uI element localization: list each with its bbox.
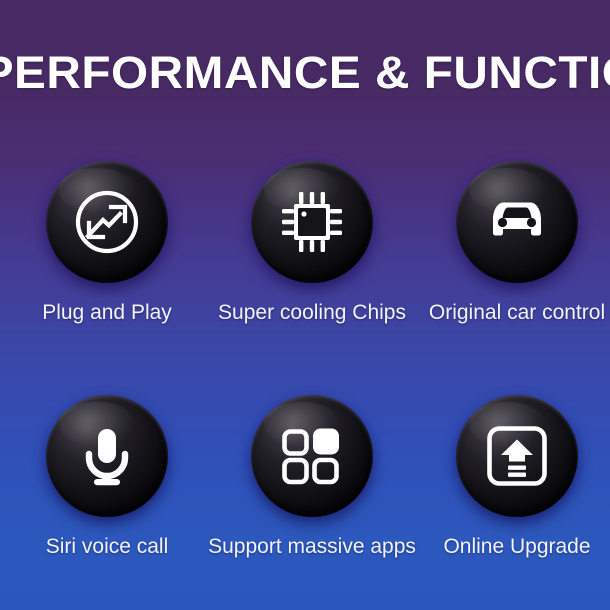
cpu-chip-icon [277, 187, 347, 257]
orb-body [251, 161, 373, 283]
feature-item-siri-voice-call[interactable]: Siri voice call [14, 392, 200, 560]
apps-grid-icon [279, 423, 345, 489]
orb-super-cooling-chips[interactable] [248, 158, 376, 286]
feature-item-plug-and-play[interactable]: Plug and Play [14, 158, 200, 326]
feature-item-support-massive-apps[interactable]: Support massive apps [219, 392, 405, 560]
orb-support-massive-apps[interactable] [248, 392, 376, 520]
page-title: PERFORMANCE & FUNCTION [0, 48, 610, 98]
microphone-icon [73, 422, 141, 490]
feature-row-1: Plug and Play [0, 158, 610, 326]
feature-label: Siri voice call [46, 534, 169, 560]
orb-body [456, 161, 578, 283]
orb-online-upgrade[interactable] [453, 392, 581, 520]
orb-body [46, 161, 168, 283]
plug-and-play-icon [71, 186, 143, 258]
feature-label: Original car control [429, 300, 605, 326]
feature-item-original-car-control[interactable]: Original car control [424, 158, 610, 326]
orb-plug-and-play[interactable] [43, 158, 171, 286]
feature-label: Support massive apps [208, 534, 416, 560]
feature-label: Plug and Play [42, 300, 172, 326]
car-front-icon [480, 185, 554, 259]
orb-body [456, 395, 578, 517]
orb-body [46, 395, 168, 517]
feature-row-2: Siri voice call Support massi [0, 392, 610, 560]
orb-siri-voice-call[interactable] [43, 392, 171, 520]
promo-banner: PERFORMANCE & FUNCTION [0, 0, 610, 610]
feature-item-online-upgrade[interactable]: Online Upgrade [424, 392, 610, 560]
orb-original-car-control[interactable] [453, 158, 581, 286]
feature-item-super-cooling-chips[interactable]: Super cooling Chips [219, 158, 405, 326]
feature-label: Online Upgrade [443, 534, 590, 560]
orb-body [251, 395, 373, 517]
feature-label: Super cooling Chips [218, 300, 406, 326]
upload-upgrade-icon [483, 422, 551, 490]
